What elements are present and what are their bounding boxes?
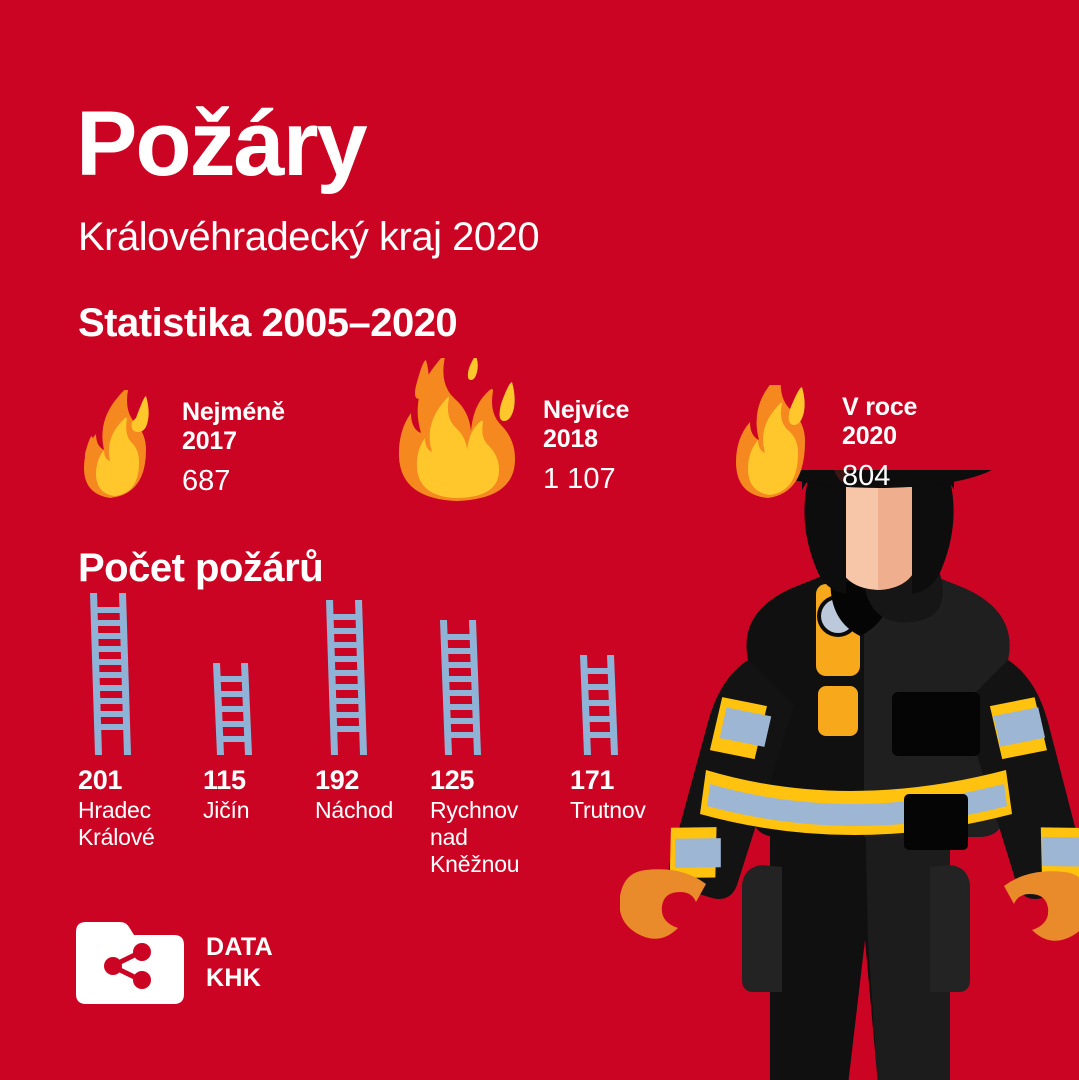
chart-category-label: Náchod [315,797,435,824]
chart-category-label: Hradec Králové [78,797,198,851]
ladder-icon [430,620,486,755]
ladder-icon [315,600,373,755]
chart-bar-jicin: 115 Jičín [203,663,259,760]
chart-category-label: Jičín [203,797,323,824]
folder-share-icon [76,922,184,1004]
chart-category-label: Trutnov [570,797,690,824]
chart-bar-trutnov: 171 Trutnov [570,655,624,760]
ladder-icon [78,593,138,755]
ladder-icon [570,655,624,755]
chart-category-label: Rychnov nad Kněžnou [430,797,550,878]
stat-value: 804 [842,459,917,493]
ladder-icon [203,663,259,755]
chart-value-label: 171 [570,765,690,795]
ladder-bar-chart: 201 Hradec Králové 115 Jičín [0,0,700,920]
logo-block[interactable]: DATA KHK [76,922,273,1004]
chart-value-label: 192 [315,765,435,795]
chart-bar-hradec-kralove: 201 Hradec Králové [78,593,138,760]
infographic-canvas: Požáry Královéhradecký kraj 2020 Statist… [0,0,1079,1080]
logo-text: DATA KHK [206,932,273,994]
stat-item-current-year: V roce 2020 804 [730,385,960,505]
stat-label: V roce 2020 [842,393,917,451]
chart-value-label: 115 [203,765,323,795]
chart-value-label: 201 [78,765,198,795]
chart-value-label: 125 [430,765,550,795]
chart-bar-nachod: 192 Náchod [315,600,373,760]
chart-bar-rychnov: 125 Rychnov nad Kněžnou [430,620,486,760]
flame-icon [730,385,812,500]
